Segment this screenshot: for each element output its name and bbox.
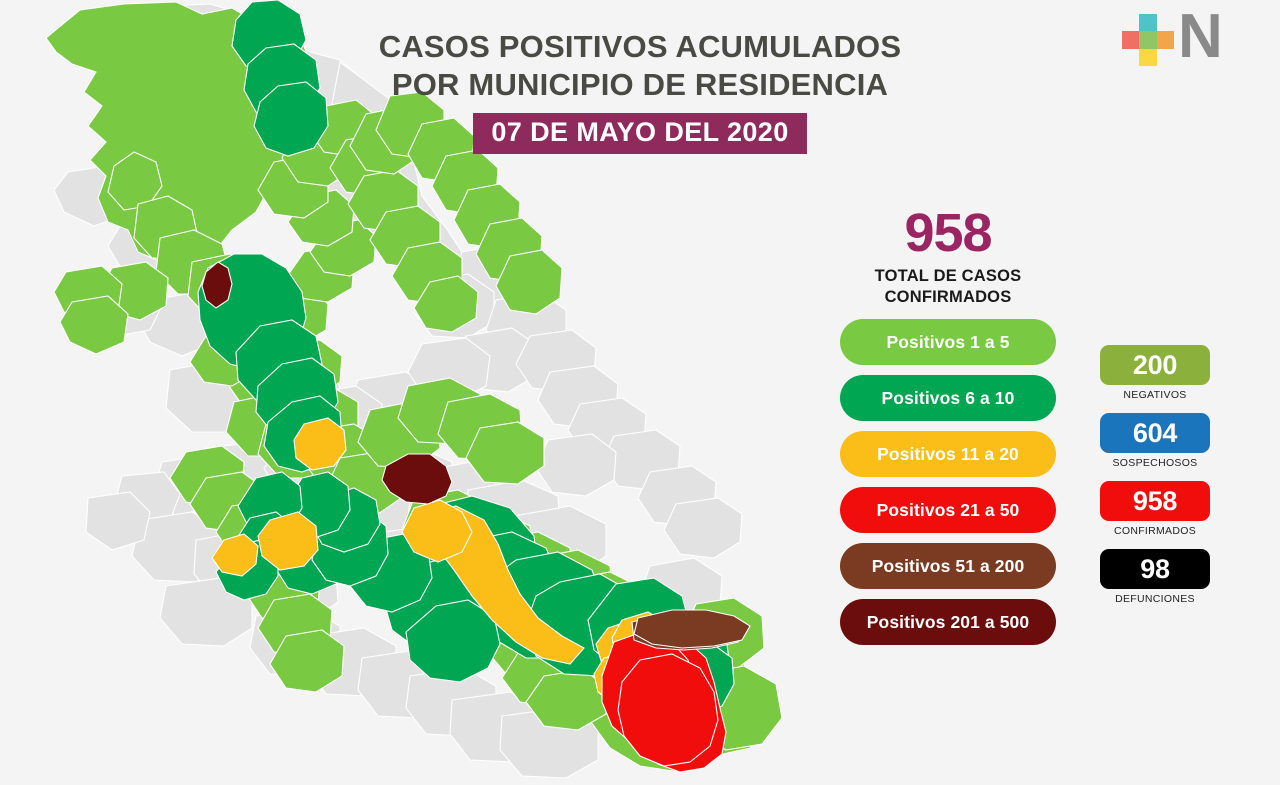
stat-value-box: 604 bbox=[1100, 413, 1210, 453]
legend-pill[interactable]: Positivos 1 a 5 bbox=[840, 319, 1056, 365]
stat-group: 604SOSPECHOSOS bbox=[1100, 413, 1210, 469]
total-cases-value: 958 bbox=[840, 206, 1056, 260]
cross-square-center bbox=[1139, 31, 1156, 48]
stat-label: NEGATIVOS bbox=[1100, 389, 1210, 401]
cross-square-left bbox=[1122, 31, 1139, 48]
stat-value-box: 958 bbox=[1100, 481, 1210, 521]
legend-pill[interactable]: Positivos 6 a 10 bbox=[840, 375, 1056, 421]
total-cases-caption: TOTAL DE CASOS CONFIRMADOS bbox=[840, 266, 1056, 307]
total-caption-line-2: CONFIRMADOS bbox=[840, 287, 1056, 308]
stat-value-box: 200 bbox=[1100, 345, 1210, 385]
legend-pill-label: Positivos 11 a 20 bbox=[877, 444, 1019, 465]
legend-pill-label: Positivos 201 a 500 bbox=[867, 612, 1029, 633]
total-caption-line-1: TOTAL DE CASOS bbox=[840, 266, 1056, 287]
summary-stats-column: 200NEGATIVOS604SOSPECHOSOS958CONFIRMADOS… bbox=[1100, 345, 1210, 617]
stat-label: SOSPECHOSOS bbox=[1100, 457, 1210, 469]
legend-pill-list: Positivos 1 a 5Positivos 6 a 10Positivos… bbox=[840, 319, 1056, 645]
stat-label: CONFIRMADOS bbox=[1100, 525, 1210, 537]
cross-square-top bbox=[1139, 14, 1156, 31]
legend-pill[interactable]: Positivos 201 a 500 bbox=[840, 599, 1056, 645]
legend-pill[interactable]: Positivos 21 a 50 bbox=[840, 487, 1056, 533]
legend-pill-label: Positivos 51 a 200 bbox=[872, 556, 1025, 577]
cross-square-bottom bbox=[1139, 49, 1156, 66]
legend-pill-label: Positivos 6 a 10 bbox=[882, 388, 1015, 409]
infographic-canvas: N CASOS POSITIVOS ACUMULADOS POR MUNICIP… bbox=[0, 0, 1280, 785]
date-badge: 07 DE MAYO DEL 2020 bbox=[473, 113, 806, 155]
page-title: CASOS POSITIVOS ACUMULADOS POR MUNICIPIO… bbox=[330, 28, 950, 154]
stat-label: DEFUNCIONES bbox=[1100, 593, 1210, 605]
stat-group: 958CONFIRMADOS bbox=[1100, 481, 1210, 537]
title-line-2: POR MUNICIPIO DE RESIDENCIA bbox=[330, 66, 950, 104]
logo-letter: N bbox=[1178, 6, 1221, 68]
stat-group: 98DEFUNCIONES bbox=[1100, 549, 1210, 605]
legend-pill-label: Positivos 1 a 5 bbox=[886, 332, 1009, 353]
legend-pill[interactable]: Positivos 51 a 200 bbox=[840, 543, 1056, 589]
cross-square-right bbox=[1157, 31, 1174, 48]
noticias-logo: N bbox=[1122, 12, 1262, 68]
legend-pill-label: Positivos 21 a 50 bbox=[877, 500, 1020, 521]
cross-icon bbox=[1122, 14, 1174, 66]
stat-group: 200NEGATIVOS bbox=[1100, 345, 1210, 401]
legend-panel: 958 TOTAL DE CASOS CONFIRMADOS Positivos… bbox=[840, 206, 1056, 655]
legend-pill[interactable]: Positivos 11 a 20 bbox=[840, 431, 1056, 477]
title-line-1: CASOS POSITIVOS ACUMULADOS bbox=[330, 28, 950, 66]
stat-value-box: 98 bbox=[1100, 549, 1210, 589]
